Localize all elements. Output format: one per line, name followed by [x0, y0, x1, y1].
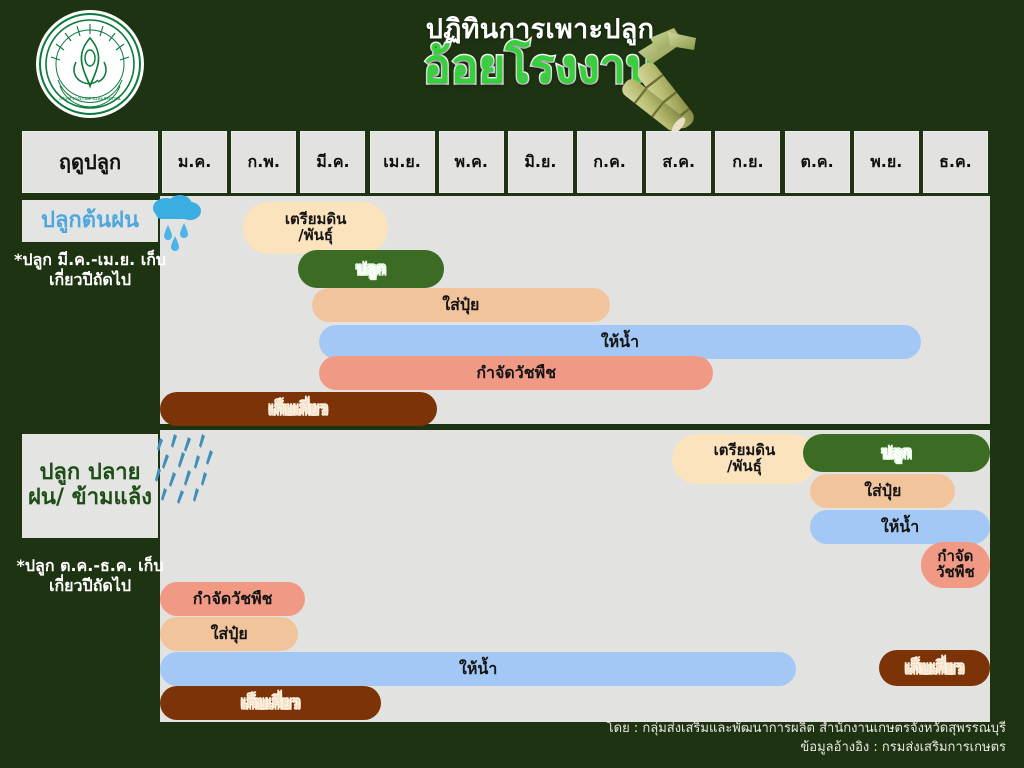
activity-bar-early-rain-2: ปลูก	[298, 250, 443, 288]
activity-bar-late-rain-drought-2: ปลูก	[803, 434, 990, 472]
activity-bar-early-rain-4: ให้น้ำ	[319, 325, 921, 359]
activity-bar-late-rain-drought-3: ใส่ปุ๋ย	[810, 474, 955, 508]
activity-bar-early-rain-5: กำจัดวัชพืช	[319, 356, 713, 390]
month-header-3: มี.ค.	[300, 131, 365, 193]
season-label-early-rain: ปลูกต้นฝน	[22, 200, 158, 242]
month-header-2: ก.พ.	[231, 131, 296, 193]
month-header-10: ต.ค.	[785, 131, 850, 193]
activity-bar-late-rain-drought-10: เก็บเกี่ยว	[879, 650, 990, 686]
month-header-5: พ.ค.	[439, 131, 504, 193]
activity-bar-late-rain-drought-1: เตรียมดิน /พันธุ์	[672, 434, 817, 484]
header: กระทรวงเกษตรและสหกรณ์ ปฏิทินการเพาะปลูก …	[0, 0, 1024, 128]
month-header-4: เม.ย.	[370, 131, 435, 193]
footer-line-author: โดย : กลุ่มส่งเสริมและพัฒนาการผลิต สำนัก…	[607, 720, 1006, 739]
season-label-late-rain: ปลูก ปลายฝน/ ข้ามแล้ง	[22, 434, 158, 538]
activity-bar-late-rain-drought-4: ให้น้ำ	[810, 510, 990, 544]
month-header-7: ก.ค.	[577, 131, 642, 193]
infographic-root: กระทรวงเกษตรและสหกรณ์ ปฏิทินการเพาะปลูก …	[0, 0, 1024, 768]
month-header-1: ม.ค.	[162, 131, 227, 193]
season-note-early-rain: *ปลูก มี.ค.-เม.ย. เก็บเกี่ยวปีถัดไป	[10, 250, 170, 290]
activity-bar-early-rain-6: เก็บเกี่ยว	[160, 392, 437, 426]
footer-line-reference: ข้อมูลอ้างอิง : กรมส่งเสริมการเกษตร	[607, 739, 1006, 758]
month-header-8: ส.ค.	[646, 131, 711, 193]
month-header-6: มิ.ย.	[508, 131, 573, 193]
month-header-11: พ.ย.	[854, 131, 919, 193]
rain-cloud-icon	[146, 192, 206, 254]
month-header-12: ธ.ค.	[923, 131, 988, 193]
svg-text:กระทรวงเกษตรและสหกรณ์: กระทรวงเกษตรและสหกรณ์	[59, 95, 121, 102]
activity-bar-late-rain-drought-8: ให้น้ำ	[160, 652, 796, 686]
season-column-header: ฤดูปลูก	[22, 131, 158, 193]
season-note-late-rain: *ปลูก ต.ค.-ธ.ค. เก็บเกี่ยวปีถัดไป	[10, 556, 170, 596]
activity-bar-late-rain-drought-9: เก็บเกี่ยว	[160, 686, 381, 720]
sugarcane-image	[612, 18, 722, 146]
footer: โดย : กลุ่มส่งเสริมและพัฒนาการผลิต สำนัก…	[607, 720, 1006, 758]
month-header-9: ก.ย.	[715, 131, 780, 193]
activity-bar-late-rain-drought-7: ใส่ปุ๋ย	[160, 617, 298, 651]
ministry-of-agriculture-seal: กระทรวงเกษตรและสหกรณ์	[36, 10, 144, 118]
rain-streaks-icon	[152, 432, 220, 508]
activity-bar-early-rain-3: ใส่ปุ๋ย	[312, 288, 609, 322]
activity-bar-early-rain-1: เตรียมดิน /พันธุ์	[243, 202, 388, 254]
activity-bar-late-rain-drought-6: กำจัดวัชพืช	[160, 582, 305, 616]
activity-bar-late-rain-drought-5: กำจัด วัชพืช	[921, 542, 990, 588]
